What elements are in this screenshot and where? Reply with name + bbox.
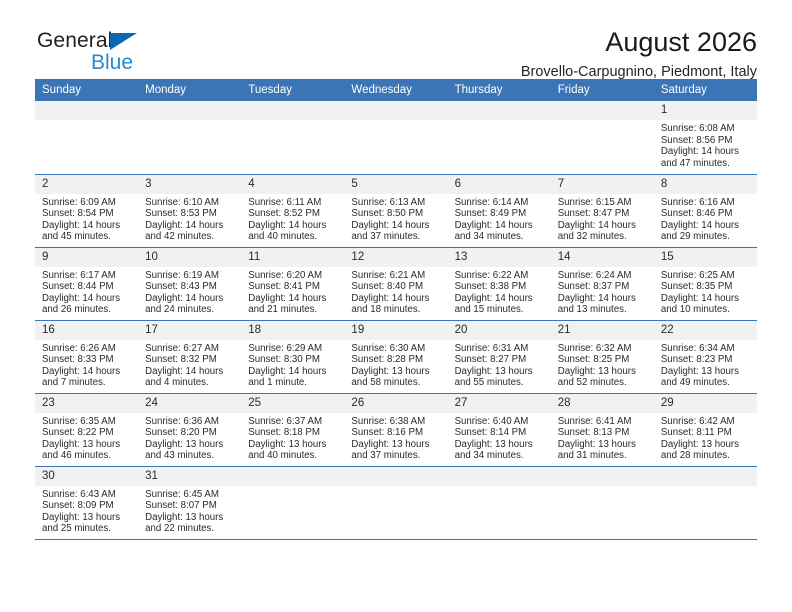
- day-details: Sunrise: 6:10 AMSunset: 8:53 PMDaylight:…: [138, 194, 241, 243]
- day-number: 21: [551, 321, 654, 340]
- day-number: 10: [138, 248, 241, 267]
- day-number: 6: [448, 175, 551, 194]
- calendar-day-cell[interactable]: 21Sunrise: 6:32 AMSunset: 8:25 PMDayligh…: [551, 320, 654, 393]
- day-number: 28: [551, 394, 654, 413]
- day-details: Sunrise: 6:14 AMSunset: 8:49 PMDaylight:…: [448, 194, 551, 243]
- day-details: Sunrise: 6:35 AMSunset: 8:22 PMDaylight:…: [35, 413, 138, 462]
- sunset-time: Sunset: 8:23 PM: [661, 354, 753, 366]
- sunset-time: Sunset: 8:28 PM: [351, 354, 443, 366]
- sunrise-time: Sunrise: 6:21 AM: [351, 270, 443, 282]
- calendar-day-cell[interactable]: 15Sunrise: 6:25 AMSunset: 8:35 PMDayligh…: [654, 247, 757, 320]
- sunrise-time: Sunrise: 6:19 AM: [145, 270, 237, 282]
- calendar-week-row: 16Sunrise: 6:26 AMSunset: 8:33 PMDayligh…: [35, 320, 757, 393]
- logo-triangle-icon: [110, 33, 137, 50]
- day-number: [344, 467, 447, 486]
- sunrise-time: Sunrise: 6:09 AM: [42, 197, 134, 209]
- sunset-time: Sunset: 8:11 PM: [661, 427, 753, 439]
- calendar-day-cell[interactable]: 9Sunrise: 6:17 AMSunset: 8:44 PMDaylight…: [35, 247, 138, 320]
- day-number: 4: [241, 175, 344, 194]
- sunset-time: Sunset: 8:32 PM: [145, 354, 237, 366]
- sunset-time: Sunset: 8:14 PM: [455, 427, 547, 439]
- daylight-duration: Daylight: 13 hours and 55 minutes.: [455, 366, 547, 389]
- calendar-week-row: 9Sunrise: 6:17 AMSunset: 8:44 PMDaylight…: [35, 247, 757, 320]
- day-details: Sunrise: 6:19 AMSunset: 8:43 PMDaylight:…: [138, 267, 241, 316]
- day-details: Sunrise: 6:11 AMSunset: 8:52 PMDaylight:…: [241, 194, 344, 243]
- day-number: 23: [35, 394, 138, 413]
- sunset-time: Sunset: 8:22 PM: [42, 427, 134, 439]
- sunset-time: Sunset: 8:41 PM: [248, 281, 340, 293]
- day-number: 20: [448, 321, 551, 340]
- day-details: Sunrise: 6:42 AMSunset: 8:11 PMDaylight:…: [654, 413, 757, 462]
- logo-text-general: General: [37, 30, 227, 52]
- sunrise-time: Sunrise: 6:27 AM: [145, 343, 237, 355]
- day-details: Sunrise: 6:16 AMSunset: 8:46 PMDaylight:…: [654, 194, 757, 243]
- general-blue-logo[interactable]: General Blue: [37, 30, 227, 82]
- sunrise-time: Sunrise: 6:20 AM: [248, 270, 340, 282]
- sunset-time: Sunset: 8:43 PM: [145, 281, 237, 293]
- sunset-time: Sunset: 8:52 PM: [248, 208, 340, 220]
- sunset-time: Sunset: 8:16 PM: [351, 427, 443, 439]
- calendar-day-cell[interactable]: 18Sunrise: 6:29 AMSunset: 8:30 PMDayligh…: [241, 320, 344, 393]
- day-details: Sunrise: 6:40 AMSunset: 8:14 PMDaylight:…: [448, 413, 551, 462]
- calendar-day-cell[interactable]: 28Sunrise: 6:41 AMSunset: 8:13 PMDayligh…: [551, 393, 654, 466]
- daylight-duration: Daylight: 14 hours and 42 minutes.: [145, 220, 237, 243]
- day-number: [551, 467, 654, 486]
- calendar-day-cell[interactable]: 16Sunrise: 6:26 AMSunset: 8:33 PMDayligh…: [35, 320, 138, 393]
- daylight-duration: Daylight: 14 hours and 21 minutes.: [248, 293, 340, 316]
- sunrise-time: Sunrise: 6:22 AM: [455, 270, 547, 282]
- calendar-day-cell[interactable]: 29Sunrise: 6:42 AMSunset: 8:11 PMDayligh…: [654, 393, 757, 466]
- calendar-day-cell-empty: [344, 101, 447, 174]
- sunrise-time: Sunrise: 6:45 AM: [145, 489, 237, 501]
- day-number: 16: [35, 321, 138, 340]
- calendar-day-cell-empty: [448, 466, 551, 539]
- sunrise-time: Sunrise: 6:31 AM: [455, 343, 547, 355]
- day-number: 3: [138, 175, 241, 194]
- sunrise-time: Sunrise: 6:37 AM: [248, 416, 340, 428]
- daylight-duration: Daylight: 13 hours and 22 minutes.: [145, 512, 237, 535]
- sunset-time: Sunset: 8:27 PM: [455, 354, 547, 366]
- daylight-duration: Daylight: 14 hours and 29 minutes.: [661, 220, 753, 243]
- sunset-time: Sunset: 8:47 PM: [558, 208, 650, 220]
- daylight-duration: Daylight: 14 hours and 4 minutes.: [145, 366, 237, 389]
- daylight-duration: Daylight: 13 hours and 40 minutes.: [248, 439, 340, 462]
- logo-word-blue: Blue: [91, 52, 227, 73]
- sunrise-time: Sunrise: 6:30 AM: [351, 343, 443, 355]
- day-number: 30: [35, 467, 138, 486]
- daylight-duration: Daylight: 13 hours and 37 minutes.: [351, 439, 443, 462]
- sunset-time: Sunset: 8:46 PM: [661, 208, 753, 220]
- calendar-day-cell[interactable]: 24Sunrise: 6:36 AMSunset: 8:20 PMDayligh…: [138, 393, 241, 466]
- sunrise-time: Sunrise: 6:08 AM: [661, 123, 753, 135]
- day-details: Sunrise: 6:45 AMSunset: 8:07 PMDaylight:…: [138, 486, 241, 535]
- day-number: 1: [654, 101, 757, 120]
- sunset-time: Sunset: 8:07 PM: [145, 500, 237, 512]
- daylight-duration: Daylight: 13 hours and 25 minutes.: [42, 512, 134, 535]
- sunset-time: Sunset: 8:13 PM: [558, 427, 650, 439]
- daylight-duration: Daylight: 13 hours and 52 minutes.: [558, 366, 650, 389]
- day-number: 31: [138, 467, 241, 486]
- calendar-day-cell[interactable]: 25Sunrise: 6:37 AMSunset: 8:18 PMDayligh…: [241, 393, 344, 466]
- sunset-time: Sunset: 8:25 PM: [558, 354, 650, 366]
- day-number: 17: [138, 321, 241, 340]
- day-details: Sunrise: 6:31 AMSunset: 8:27 PMDaylight:…: [448, 340, 551, 389]
- day-details: Sunrise: 6:36 AMSunset: 8:20 PMDaylight:…: [138, 413, 241, 462]
- day-number: 12: [344, 248, 447, 267]
- day-number: 11: [241, 248, 344, 267]
- sunrise-time: Sunrise: 6:10 AM: [145, 197, 237, 209]
- calendar-day-cell-empty: [448, 101, 551, 174]
- day-details: Sunrise: 6:13 AMSunset: 8:50 PMDaylight:…: [344, 194, 447, 243]
- day-number: [35, 101, 138, 120]
- sunset-time: Sunset: 8:53 PM: [145, 208, 237, 220]
- sunset-time: Sunset: 8:44 PM: [42, 281, 134, 293]
- daylight-duration: Daylight: 13 hours and 43 minutes.: [145, 439, 237, 462]
- sunrise-time: Sunrise: 6:36 AM: [145, 416, 237, 428]
- day-number: 29: [654, 394, 757, 413]
- sunrise-time: Sunrise: 6:11 AM: [248, 197, 340, 209]
- sunrise-time: Sunrise: 6:40 AM: [455, 416, 547, 428]
- day-number: 13: [448, 248, 551, 267]
- sunset-time: Sunset: 8:56 PM: [661, 135, 753, 147]
- day-details: Sunrise: 6:38 AMSunset: 8:16 PMDaylight:…: [344, 413, 447, 462]
- day-details: Sunrise: 6:41 AMSunset: 8:13 PMDaylight:…: [551, 413, 654, 462]
- sunset-time: Sunset: 8:20 PM: [145, 427, 237, 439]
- sunset-time: Sunset: 8:38 PM: [455, 281, 547, 293]
- day-number: [138, 101, 241, 120]
- day-number: 25: [241, 394, 344, 413]
- day-number: [448, 467, 551, 486]
- calendar-day-cell-empty: [551, 466, 654, 539]
- calendar-day-cell[interactable]: 17Sunrise: 6:27 AMSunset: 8:32 PMDayligh…: [138, 320, 241, 393]
- day-details: Sunrise: 6:34 AMSunset: 8:23 PMDaylight:…: [654, 340, 757, 389]
- sunset-time: Sunset: 8:18 PM: [248, 427, 340, 439]
- day-number: [344, 101, 447, 120]
- day-number: [551, 101, 654, 120]
- calendar-day-cell[interactable]: 12Sunrise: 6:21 AMSunset: 8:40 PMDayligh…: [344, 247, 447, 320]
- calendar-day-cell[interactable]: 19Sunrise: 6:30 AMSunset: 8:28 PMDayligh…: [344, 320, 447, 393]
- daylight-duration: Daylight: 14 hours and 40 minutes.: [248, 220, 340, 243]
- day-details: Sunrise: 6:15 AMSunset: 8:47 PMDaylight:…: [551, 194, 654, 243]
- day-details: Sunrise: 6:30 AMSunset: 8:28 PMDaylight:…: [344, 340, 447, 389]
- calendar-day-cell[interactable]: 11Sunrise: 6:20 AMSunset: 8:41 PMDayligh…: [241, 247, 344, 320]
- calendar-day-cell[interactable]: 14Sunrise: 6:24 AMSunset: 8:37 PMDayligh…: [551, 247, 654, 320]
- sunrise-time: Sunrise: 6:25 AM: [661, 270, 753, 282]
- sunset-time: Sunset: 8:30 PM: [248, 354, 340, 366]
- page-header: General Blue August 2026 Brovello-Carpug…: [35, 0, 757, 70]
- daylight-duration: Daylight: 14 hours and 15 minutes.: [455, 293, 547, 316]
- calendar-day-cell[interactable]: 4Sunrise: 6:11 AMSunset: 8:52 PMDaylight…: [241, 174, 344, 247]
- sunrise-time: Sunrise: 6:38 AM: [351, 416, 443, 428]
- sunrise-time: Sunrise: 6:17 AM: [42, 270, 134, 282]
- day-details: Sunrise: 6:43 AMSunset: 8:09 PMDaylight:…: [35, 486, 138, 535]
- calendar-day-cell[interactable]: 30Sunrise: 6:43 AMSunset: 8:09 PMDayligh…: [35, 466, 138, 539]
- day-number: [241, 467, 344, 486]
- calendar-day-cell-empty: [35, 101, 138, 174]
- calendar-day-cell[interactable]: 31Sunrise: 6:45 AMSunset: 8:07 PMDayligh…: [138, 466, 241, 539]
- day-number: 2: [35, 175, 138, 194]
- sunrise-time: Sunrise: 6:15 AM: [558, 197, 650, 209]
- sunrise-time: Sunrise: 6:41 AM: [558, 416, 650, 428]
- day-number: [448, 101, 551, 120]
- calendar-day-cell[interactable]: 6Sunrise: 6:14 AMSunset: 8:49 PMDaylight…: [448, 174, 551, 247]
- day-number: 24: [138, 394, 241, 413]
- calendar-day-cell[interactable]: 5Sunrise: 6:13 AMSunset: 8:50 PMDaylight…: [344, 174, 447, 247]
- sunrise-time: Sunrise: 6:16 AM: [661, 197, 753, 209]
- daylight-duration: Daylight: 14 hours and 37 minutes.: [351, 220, 443, 243]
- calendar-day-cell[interactable]: 3Sunrise: 6:10 AMSunset: 8:53 PMDaylight…: [138, 174, 241, 247]
- daylight-duration: Daylight: 13 hours and 28 minutes.: [661, 439, 753, 462]
- sunrise-sunset-calendar-table: SundayMondayTuesdayWednesdayThursdayFrid…: [35, 79, 757, 540]
- daylight-duration: Daylight: 14 hours and 32 minutes.: [558, 220, 650, 243]
- daylight-duration: Daylight: 14 hours and 18 minutes.: [351, 293, 443, 316]
- daylight-duration: Daylight: 13 hours and 49 minutes.: [661, 366, 753, 389]
- calendar-day-cell-empty: [241, 466, 344, 539]
- day-number: 5: [344, 175, 447, 194]
- sunrise-time: Sunrise: 6:43 AM: [42, 489, 134, 501]
- calendar-day-cell-empty: [138, 101, 241, 174]
- calendar-day-cell[interactable]: 13Sunrise: 6:22 AMSunset: 8:38 PMDayligh…: [448, 247, 551, 320]
- daylight-duration: Daylight: 14 hours and 47 minutes.: [661, 146, 753, 169]
- calendar-day-cell[interactable]: 26Sunrise: 6:38 AMSunset: 8:16 PMDayligh…: [344, 393, 447, 466]
- daylight-duration: Daylight: 13 hours and 46 minutes.: [42, 439, 134, 462]
- day-details: Sunrise: 6:24 AMSunset: 8:37 PMDaylight:…: [551, 267, 654, 316]
- sunrise-time: Sunrise: 6:34 AM: [661, 343, 753, 355]
- day-number: 18: [241, 321, 344, 340]
- calendar-day-cell[interactable]: 7Sunrise: 6:15 AMSunset: 8:47 PMDaylight…: [551, 174, 654, 247]
- calendar-week-row: 2Sunrise: 6:09 AMSunset: 8:54 PMDaylight…: [35, 174, 757, 247]
- sunrise-time: Sunrise: 6:35 AM: [42, 416, 134, 428]
- day-number: [654, 467, 757, 486]
- day-details: Sunrise: 6:22 AMSunset: 8:38 PMDaylight:…: [448, 267, 551, 316]
- day-number: 22: [654, 321, 757, 340]
- calendar-page: General Blue August 2026 Brovello-Carpug…: [0, 0, 792, 612]
- calendar-day-cell[interactable]: 22Sunrise: 6:34 AMSunset: 8:23 PMDayligh…: [654, 320, 757, 393]
- sunset-time: Sunset: 8:50 PM: [351, 208, 443, 220]
- sunrise-time: Sunrise: 6:29 AM: [248, 343, 340, 355]
- daylight-duration: Daylight: 14 hours and 7 minutes.: [42, 366, 134, 389]
- sunset-time: Sunset: 8:49 PM: [455, 208, 547, 220]
- day-details: Sunrise: 6:20 AMSunset: 8:41 PMDaylight:…: [241, 267, 344, 316]
- day-number: 27: [448, 394, 551, 413]
- day-number: 8: [654, 175, 757, 194]
- day-number: [241, 101, 344, 120]
- sunset-time: Sunset: 8:54 PM: [42, 208, 134, 220]
- daylight-duration: Daylight: 14 hours and 13 minutes.: [558, 293, 650, 316]
- sunset-time: Sunset: 8:33 PM: [42, 354, 134, 366]
- daylight-duration: Daylight: 13 hours and 31 minutes.: [558, 439, 650, 462]
- calendar-day-cell-empty: [654, 466, 757, 539]
- day-details: Sunrise: 6:32 AMSunset: 8:25 PMDaylight:…: [551, 340, 654, 389]
- calendar-week-row: 23Sunrise: 6:35 AMSunset: 8:22 PMDayligh…: [35, 393, 757, 466]
- calendar-day-cell[interactable]: 1Sunrise: 6:08 AMSunset: 8:56 PMDaylight…: [654, 101, 757, 174]
- daylight-duration: Daylight: 14 hours and 45 minutes.: [42, 220, 134, 243]
- sunset-time: Sunset: 8:40 PM: [351, 281, 443, 293]
- daylight-duration: Daylight: 14 hours and 1 minute.: [248, 366, 340, 389]
- day-number: 15: [654, 248, 757, 267]
- daylight-duration: Daylight: 14 hours and 24 minutes.: [145, 293, 237, 316]
- day-number: 26: [344, 394, 447, 413]
- calendar-day-cell[interactable]: 23Sunrise: 6:35 AMSunset: 8:22 PMDayligh…: [35, 393, 138, 466]
- day-details: Sunrise: 6:21 AMSunset: 8:40 PMDaylight:…: [344, 267, 447, 316]
- calendar-day-cell[interactable]: 2Sunrise: 6:09 AMSunset: 8:54 PMDaylight…: [35, 174, 138, 247]
- day-number: 7: [551, 175, 654, 194]
- daylight-duration: Daylight: 13 hours and 34 minutes.: [455, 439, 547, 462]
- calendar-day-cell-empty: [344, 466, 447, 539]
- daylight-duration: Daylight: 14 hours and 34 minutes.: [455, 220, 547, 243]
- sunrise-time: Sunrise: 6:32 AM: [558, 343, 650, 355]
- day-number: 19: [344, 321, 447, 340]
- day-details: Sunrise: 6:37 AMSunset: 8:18 PMDaylight:…: [241, 413, 344, 462]
- day-details: Sunrise: 6:17 AMSunset: 8:44 PMDaylight:…: [35, 267, 138, 316]
- sunrise-time: Sunrise: 6:26 AM: [42, 343, 134, 355]
- calendar-day-cell-empty: [551, 101, 654, 174]
- daylight-duration: Daylight: 14 hours and 26 minutes.: [42, 293, 134, 316]
- sunset-time: Sunset: 8:35 PM: [661, 281, 753, 293]
- sunrise-time: Sunrise: 6:42 AM: [661, 416, 753, 428]
- sunset-time: Sunset: 8:09 PM: [42, 500, 134, 512]
- day-number: 14: [551, 248, 654, 267]
- day-details: Sunrise: 6:27 AMSunset: 8:32 PMDaylight:…: [138, 340, 241, 389]
- day-details: Sunrise: 6:08 AMSunset: 8:56 PMDaylight:…: [654, 120, 757, 169]
- sunrise-time: Sunrise: 6:14 AM: [455, 197, 547, 209]
- day-details: Sunrise: 6:29 AMSunset: 8:30 PMDaylight:…: [241, 340, 344, 389]
- logo-word-general: General: [37, 29, 112, 52]
- daylight-duration: Daylight: 14 hours and 10 minutes.: [661, 293, 753, 316]
- calendar-day-cell[interactable]: 8Sunrise: 6:16 AMSunset: 8:46 PMDaylight…: [654, 174, 757, 247]
- sunrise-time: Sunrise: 6:24 AM: [558, 270, 650, 282]
- calendar-body: 1Sunrise: 6:08 AMSunset: 8:56 PMDaylight…: [35, 101, 757, 539]
- sunrise-time: Sunrise: 6:13 AM: [351, 197, 443, 209]
- sunset-time: Sunset: 8:37 PM: [558, 281, 650, 293]
- calendar-day-cell[interactable]: 27Sunrise: 6:40 AMSunset: 8:14 PMDayligh…: [448, 393, 551, 466]
- day-details: Sunrise: 6:25 AMSunset: 8:35 PMDaylight:…: [654, 267, 757, 316]
- calendar-day-cell[interactable]: 20Sunrise: 6:31 AMSunset: 8:27 PMDayligh…: [448, 320, 551, 393]
- day-details: Sunrise: 6:26 AMSunset: 8:33 PMDaylight:…: [35, 340, 138, 389]
- calendar-day-cell[interactable]: 10Sunrise: 6:19 AMSunset: 8:43 PMDayligh…: [138, 247, 241, 320]
- calendar-day-cell-empty: [241, 101, 344, 174]
- calendar-week-row: 30Sunrise: 6:43 AMSunset: 8:09 PMDayligh…: [35, 466, 757, 539]
- calendar-week-row: 1Sunrise: 6:08 AMSunset: 8:56 PMDaylight…: [35, 101, 757, 174]
- day-number: 9: [35, 248, 138, 267]
- daylight-duration: Daylight: 13 hours and 58 minutes.: [351, 366, 443, 389]
- day-details: Sunrise: 6:09 AMSunset: 8:54 PMDaylight:…: [35, 194, 138, 243]
